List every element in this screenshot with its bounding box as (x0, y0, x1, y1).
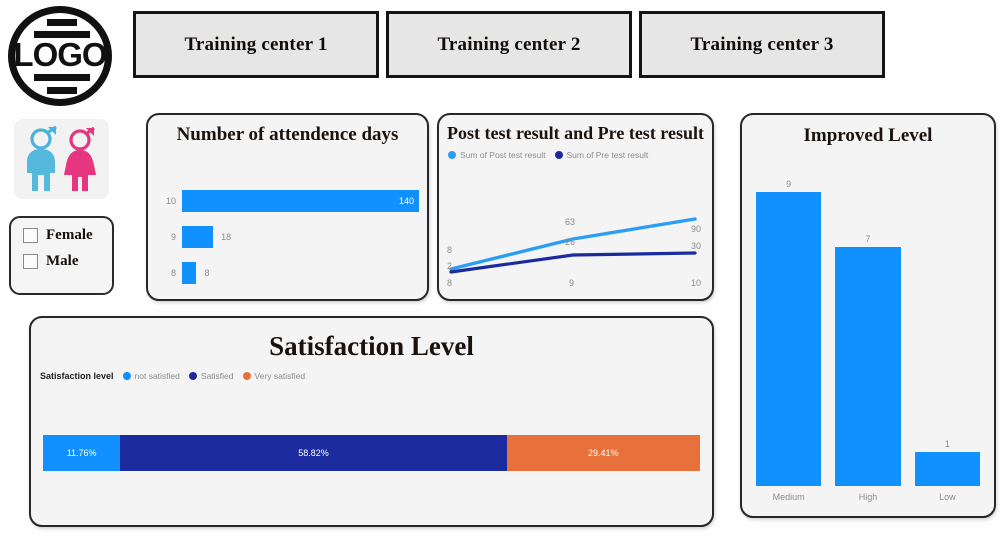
attendance-bar-row-10[interactable]: 10 140 (156, 183, 419, 219)
attendance-days-card: Number of attendence days 10 140 9 18 8 (146, 113, 429, 301)
x-tick-9: 9 (569, 278, 574, 288)
attendance-value-9: 18 (221, 232, 231, 242)
tab-training-center-2[interactable]: Training center 2 (386, 11, 632, 78)
improved-tick-low: Low (915, 488, 980, 506)
logo-bar-top-short (47, 19, 77, 26)
improved-bar-medium[interactable] (756, 192, 821, 486)
legend-dot-post-test-icon (448, 151, 456, 159)
logo-bar-bottom-long (34, 74, 90, 81)
satisfaction-legend-title: Satisfaction level (40, 371, 114, 381)
satisfaction-stacked-bar: 11.76% 58.82% 29.41% (43, 435, 700, 471)
point-label-post-8: 8 (447, 245, 452, 255)
gender-filter-option-female[interactable]: Female (23, 227, 112, 244)
attendance-value-8: 8 (205, 268, 210, 278)
satisfaction-level-title: Satisfaction Level (31, 330, 712, 362)
improved-level-plot: 9 7 1 (756, 179, 980, 486)
legend-label-post-test: Sum of Post test result (460, 150, 546, 160)
legend-label-not-satisfied: not satisfied (135, 371, 180, 381)
logo-text: LOGO (8, 38, 112, 72)
x-tick-8: 8 (447, 278, 452, 288)
satisfaction-legend: Satisfaction level not satisfied Satisfi… (40, 371, 712, 381)
improved-value-medium: 9 (786, 179, 791, 189)
attendance-bar-row-8[interactable]: 8 8 (156, 255, 419, 291)
test-results-legend: Sum of Post test result Sum of Pre test … (448, 150, 712, 160)
improved-bar-col-low[interactable]: 1 (915, 179, 980, 486)
checkbox-female[interactable] (23, 228, 38, 243)
legend-label-satisfied: Satisfied (201, 371, 234, 381)
tab-training-center-1[interactable]: Training center 1 (133, 11, 379, 78)
male-figure-icon (22, 125, 62, 193)
improved-tick-high: High (835, 488, 900, 506)
legend-item-post-test[interactable]: Sum of Post test result (448, 150, 546, 160)
legend-label-very-satisfied: Very satisfied (255, 371, 306, 381)
dashboard-page: LOGO Female Male Training center 1 Train (0, 0, 1000, 552)
satisfaction-segment-very-satisfied[interactable]: 29.41% (507, 435, 700, 471)
attendance-category-10: 10 (156, 196, 176, 206)
attendance-bar-8[interactable] (182, 262, 196, 284)
attendance-track-9: 18 (182, 226, 419, 248)
point-label-pre-8: 2 (447, 261, 452, 271)
satisfaction-level-card: Satisfaction Level Satisfaction level no… (29, 316, 714, 527)
improved-bar-col-medium[interactable]: 9 (756, 179, 821, 486)
attendance-track-8: 8 (182, 262, 419, 284)
improved-value-low: 1 (945, 439, 950, 449)
legend-item-satisfied[interactable]: Satisfied (189, 371, 234, 381)
improved-tick-medium: Medium (756, 488, 821, 506)
improved-value-high: 7 (865, 234, 870, 244)
legend-dot-pre-test-icon (555, 151, 563, 159)
legend-item-not-satisfied[interactable]: not satisfied (123, 371, 180, 381)
improved-bar-col-high[interactable]: 7 (835, 179, 900, 486)
test-results-plot: 8 2 63 26 90 30 8 9 10 (445, 211, 710, 295)
gender-filter-option-male[interactable]: Male (23, 253, 112, 270)
legend-item-pre-test[interactable]: Sum of Pre test result (555, 150, 649, 160)
point-label-pre-10: 30 (691, 241, 701, 251)
gender-filter-panel: Female Male (9, 216, 114, 295)
logo: LOGO (8, 6, 116, 110)
point-label-pre-9: 26 (565, 237, 575, 247)
improved-level-chart: 9 7 1 Medium High Low (756, 163, 980, 506)
attendance-track-10: 140 (182, 190, 419, 212)
attendance-days-title: Number of attendence days (148, 123, 427, 146)
satisfaction-segment-satisfied[interactable]: 58.82% (120, 435, 506, 471)
attendance-category-9: 9 (156, 232, 176, 242)
gender-filter-label-male: Male (46, 253, 78, 270)
gender-filter-label-female: Female (46, 227, 93, 244)
female-figure-icon (61, 125, 101, 193)
improved-level-axis: Medium High Low (756, 488, 980, 506)
legend-label-pre-test: Sum of Pre test result (567, 150, 649, 160)
attendance-category-8: 8 (156, 268, 176, 278)
test-results-lines (445, 211, 710, 277)
improved-bar-high[interactable] (835, 247, 900, 486)
improved-level-title: Improved Level (742, 124, 994, 147)
x-tick-10: 10 (691, 278, 701, 288)
line-pre-test[interactable] (451, 253, 695, 272)
improved-bar-low[interactable] (915, 452, 980, 486)
training-center-tabs: Training center 1 Training center 2 Trai… (133, 11, 885, 78)
legend-item-very-satisfied[interactable]: Very satisfied (243, 371, 306, 381)
tab-training-center-3[interactable]: Training center 3 (639, 11, 885, 78)
improved-level-card: Improved Level 9 7 1 Medium High (740, 113, 996, 518)
point-label-post-10: 90 (691, 224, 701, 234)
attendance-days-chart: 10 140 9 18 8 8 (156, 183, 419, 291)
legend-dot-not-satisfied-icon (123, 372, 131, 380)
satisfaction-value-satisfied: 58.82% (298, 448, 329, 458)
attendance-value-10: 140 (399, 196, 419, 206)
male-female-figures-icon (14, 119, 109, 199)
point-label-post-9: 63 (565, 217, 575, 227)
satisfaction-value-not-satisfied: 11.76% (67, 448, 97, 458)
attendance-bar-9[interactable] (182, 226, 213, 248)
legend-dot-very-satisfied-icon (243, 372, 251, 380)
checkbox-male[interactable] (23, 254, 38, 269)
satisfaction-segment-not-satisfied[interactable]: 11.76% (43, 435, 120, 471)
attendance-bar-row-9[interactable]: 9 18 (156, 219, 419, 255)
test-results-card: Post test result and Pre test result Sum… (437, 113, 714, 301)
logo-bar-bottom-short (47, 87, 77, 94)
satisfaction-value-very-satisfied: 29.41% (588, 448, 619, 458)
test-results-title: Post test result and Pre test result (439, 122, 712, 144)
legend-dot-satisfied-icon (189, 372, 197, 380)
attendance-bar-10[interactable]: 140 (182, 190, 419, 212)
